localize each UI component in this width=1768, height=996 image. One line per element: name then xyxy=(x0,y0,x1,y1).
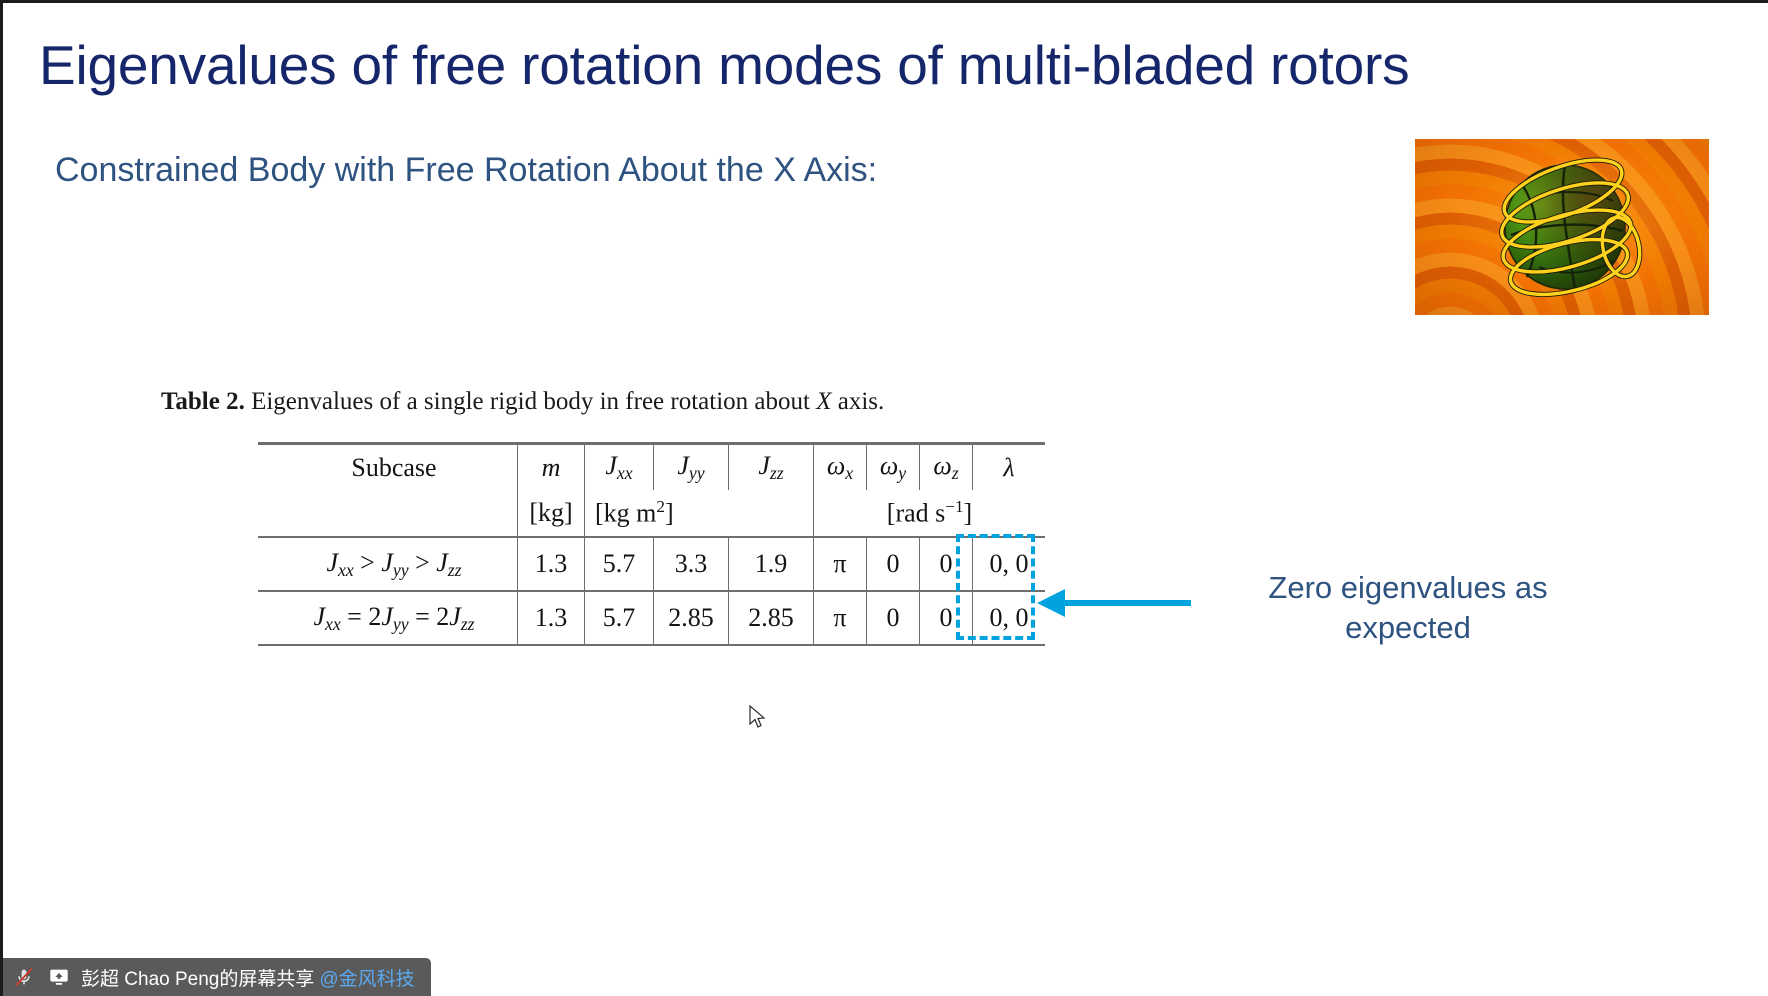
cell-omega-y: 0 xyxy=(867,591,920,645)
header-jzz: Jzz xyxy=(729,444,814,491)
share-company-tag: @金风科技 xyxy=(319,964,414,991)
table-units-row: [kg] [kg m2] [rad s−1] xyxy=(258,490,1045,537)
cell-jzz: 2.85 xyxy=(729,591,814,645)
cell-omega-x: π xyxy=(814,591,867,645)
callout-line-2: expected xyxy=(1233,608,1583,648)
rotor-thumbnail-image xyxy=(1415,139,1709,315)
table-row: Jxx = 2Jyy = 2Jzz 1.3 5.7 2.85 2.85 π 0 … xyxy=(258,591,1045,645)
callout-annotation: Zero eigenvalues as expected xyxy=(1233,568,1583,647)
table-block: Table 2. Eigenvalues of a single rigid b… xyxy=(153,388,1045,646)
cell-mass: 1.3 xyxy=(518,537,585,591)
header-lambda: λ xyxy=(973,444,1046,491)
microphone-muted-icon[interactable] xyxy=(11,964,37,990)
header-mass: m xyxy=(518,444,585,491)
cell-omega-x: π xyxy=(814,537,867,591)
callout-arrow-icon xyxy=(1033,583,1193,623)
page-title: Eigenvalues of free rotation modes of mu… xyxy=(39,36,1699,95)
share-label: 彭超 Chao Peng的屏幕共享 xyxy=(81,964,314,991)
header-omega-x: ωx xyxy=(814,444,867,491)
table-caption-text-a: Eigenvalues of a single rigid body in fr… xyxy=(251,388,810,415)
cell-jzz: 1.9 xyxy=(729,537,814,591)
screen-share-taskbar[interactable]: 彭超 Chao Peng的屏幕共享 @金风科技 xyxy=(3,958,431,996)
units-inertia: [kg m2] xyxy=(585,490,814,537)
callout-line-1: Zero eigenvalues as xyxy=(1233,568,1583,608)
header-subcase: Subcase xyxy=(258,444,518,491)
units-subcase-empty xyxy=(258,490,518,537)
cell-omega-z: 0 xyxy=(920,591,973,645)
spinning-ball-graphic xyxy=(1415,139,1709,315)
units-rate: [rad s−1] xyxy=(814,490,1046,537)
cell-omega-y: 0 xyxy=(867,537,920,591)
header-omega-y: ωy xyxy=(867,444,920,491)
table-caption-axis: X xyxy=(816,388,831,415)
screen-share-icon[interactable] xyxy=(46,964,72,990)
table-header-row: Subcase m Jxx Jyy Jzz ωx ωy ωz λ xyxy=(258,444,1045,491)
table-caption: Table 2. Eigenvalues of a single rigid b… xyxy=(161,388,1045,416)
cell-jxx: 5.7 xyxy=(585,537,654,591)
cell-omega-z: 0 xyxy=(920,537,973,591)
cell-mass: 1.3 xyxy=(518,591,585,645)
cell-jxx: 5.7 xyxy=(585,591,654,645)
table-caption-label: Table 2. xyxy=(161,388,245,415)
eigenvalues-table: Subcase m Jxx Jyy Jzz ωx ωy ωz λ [kg] [k… xyxy=(258,442,1045,646)
cell-subcase: Jxx > Jyy > Jzz xyxy=(258,537,518,591)
units-mass: [kg] xyxy=(518,490,585,537)
cell-jyy: 3.3 xyxy=(654,537,729,591)
mouse-cursor-icon xyxy=(749,705,767,731)
slide-subtitle: Constrained Body with Free Rotation Abou… xyxy=(55,151,877,190)
header-jyy: Jyy xyxy=(654,444,729,491)
cell-jyy: 2.85 xyxy=(654,591,729,645)
cell-subcase: Jxx = 2Jyy = 2Jzz xyxy=(258,591,518,645)
table-caption-text-b: axis. xyxy=(838,388,885,415)
header-omega-z: ωz xyxy=(920,444,973,491)
slide-canvas: Eigenvalues of free rotation modes of mu… xyxy=(0,0,1768,996)
table-row: Jxx > Jyy > Jzz 1.3 5.7 3.3 1.9 π 0 0 0,… xyxy=(258,537,1045,591)
header-jxx: Jxx xyxy=(585,444,654,491)
